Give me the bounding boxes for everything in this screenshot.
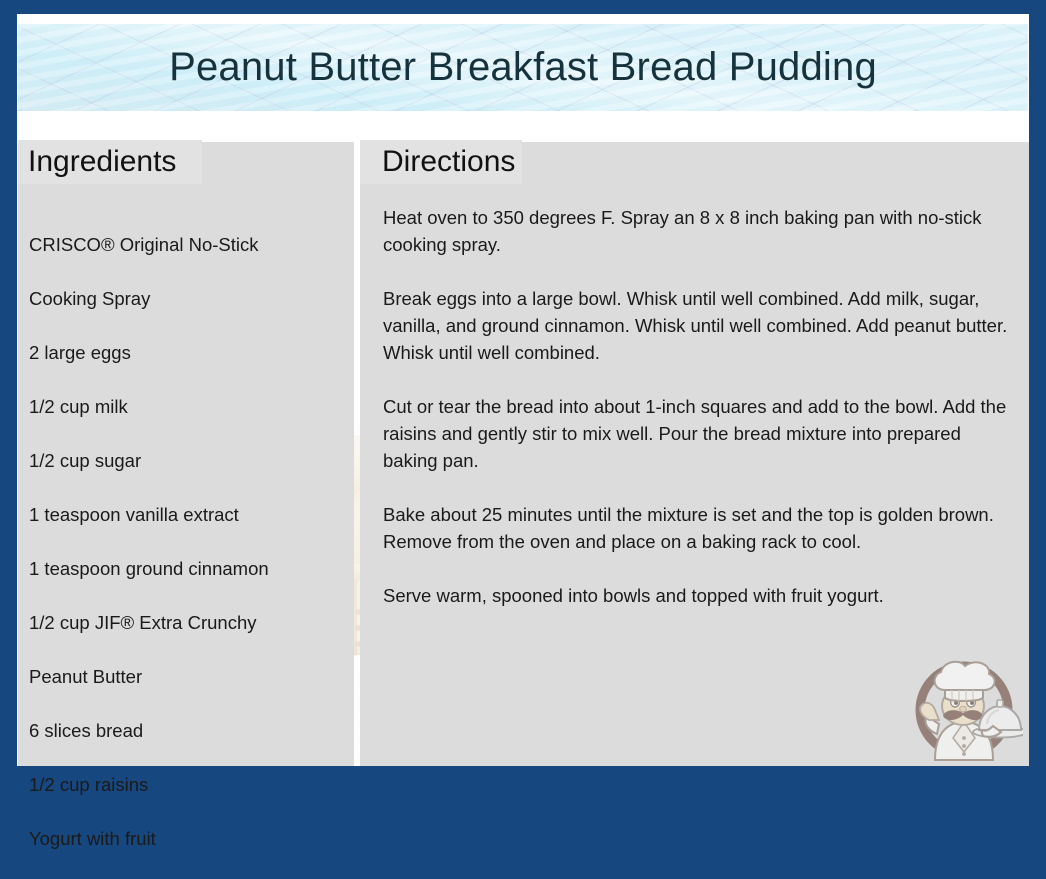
list-item: CRISCO® Original No-Stick — [29, 231, 349, 258]
list-item: Peanut Butter — [29, 663, 349, 690]
title-banner: Peanut Butter Breakfast Bread Pudding — [18, 24, 1028, 111]
direction-step: Bake about 25 minutes until the mixture … — [383, 501, 1015, 555]
list-item: 1/2 cup milk — [29, 393, 349, 420]
list-item: 1 teaspoon vanilla extract — [29, 501, 349, 528]
list-item: 1/2 cup sugar — [29, 447, 349, 474]
list-item: 1 teaspoon ground cinnamon — [29, 555, 349, 582]
directions-steps: Heat oven to 350 degrees F. Spray an 8 x… — [383, 204, 1015, 609]
list-item: 6 slices bread — [29, 717, 349, 744]
direction-step: Heat oven to 350 degrees F. Spray an 8 x… — [383, 204, 1015, 258]
chef-mascot-logo — [905, 646, 1023, 764]
direction-step: Break eggs into a large bowl. Whisk unti… — [383, 285, 1015, 366]
list-item: 1/2 cup JIF® Extra Crunchy — [29, 609, 349, 636]
recipe-card-slide: Peanut Butter Breakfast Bread Pudding — [0, 0, 1046, 792]
list-item: 2 large eggs — [29, 339, 349, 366]
directions-heading: Directions — [360, 140, 522, 184]
list-item: Yogurt with fruit — [29, 825, 349, 852]
ingredients-list: CRISCO® Original No-Stick Cooking Spray … — [29, 204, 349, 879]
ingredients-heading: Ingredients — [18, 140, 202, 184]
direction-step: Serve warm, spooned into bowls and toppe… — [383, 582, 1015, 609]
direction-step: Cut or tear the bread into about 1-inch … — [383, 393, 1015, 474]
list-item: Cooking Spray — [29, 285, 349, 312]
recipe-page: Peanut Butter Breakfast Bread Pudding — [17, 14, 1029, 766]
list-item: 1/2 cup raisins — [29, 771, 349, 798]
page-title: Peanut Butter Breakfast Bread Pudding — [18, 24, 1028, 111]
